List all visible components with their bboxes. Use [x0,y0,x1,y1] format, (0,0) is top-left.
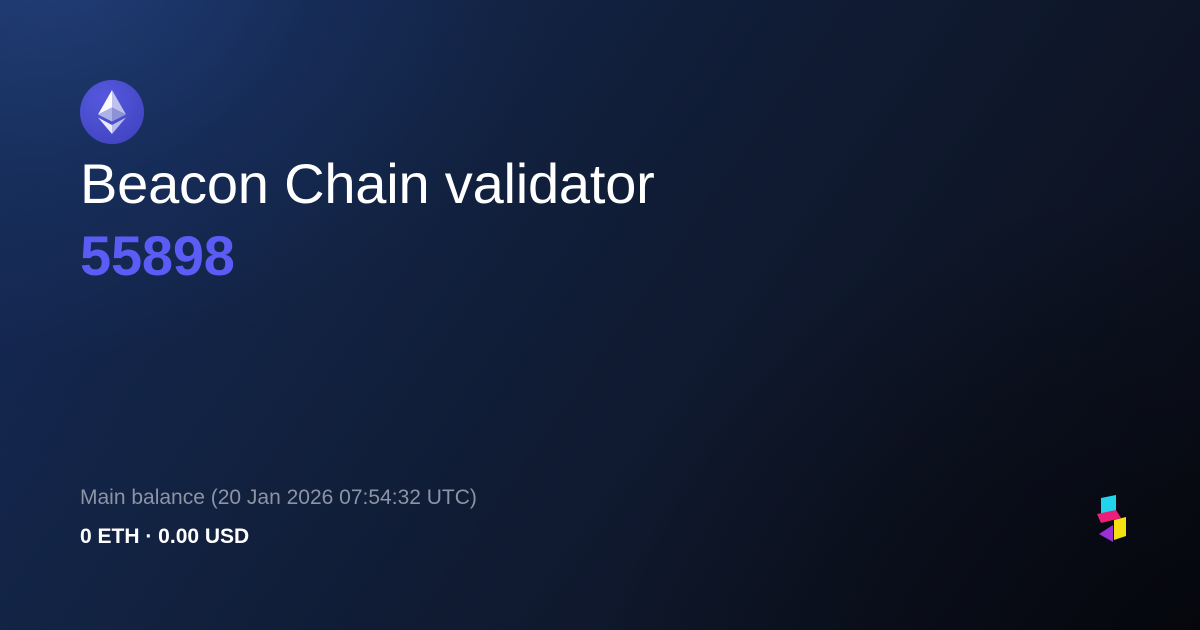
beaconchain-logo [1088,494,1128,548]
card-content: Beacon Chain validator 55898 Main balanc… [0,0,1200,630]
ethereum-avatar [80,80,144,144]
page-title: Beacon Chain validator [80,150,1120,218]
balance-label: Main balance (20 Jan 2026 07:54:32 UTC) [80,484,880,512]
balance-value: 0 ETH · 0.00 USD [80,524,880,550]
headline-block: Beacon Chain validator 55898 [80,150,1120,290]
balance-block: Main balance (20 Jan 2026 07:54:32 UTC) … [80,484,880,550]
open-graph-card: Beacon Chain validator 55898 Main balanc… [0,0,1200,630]
validator-index: 55898 [80,222,1120,290]
ethereum-icon [97,89,127,135]
